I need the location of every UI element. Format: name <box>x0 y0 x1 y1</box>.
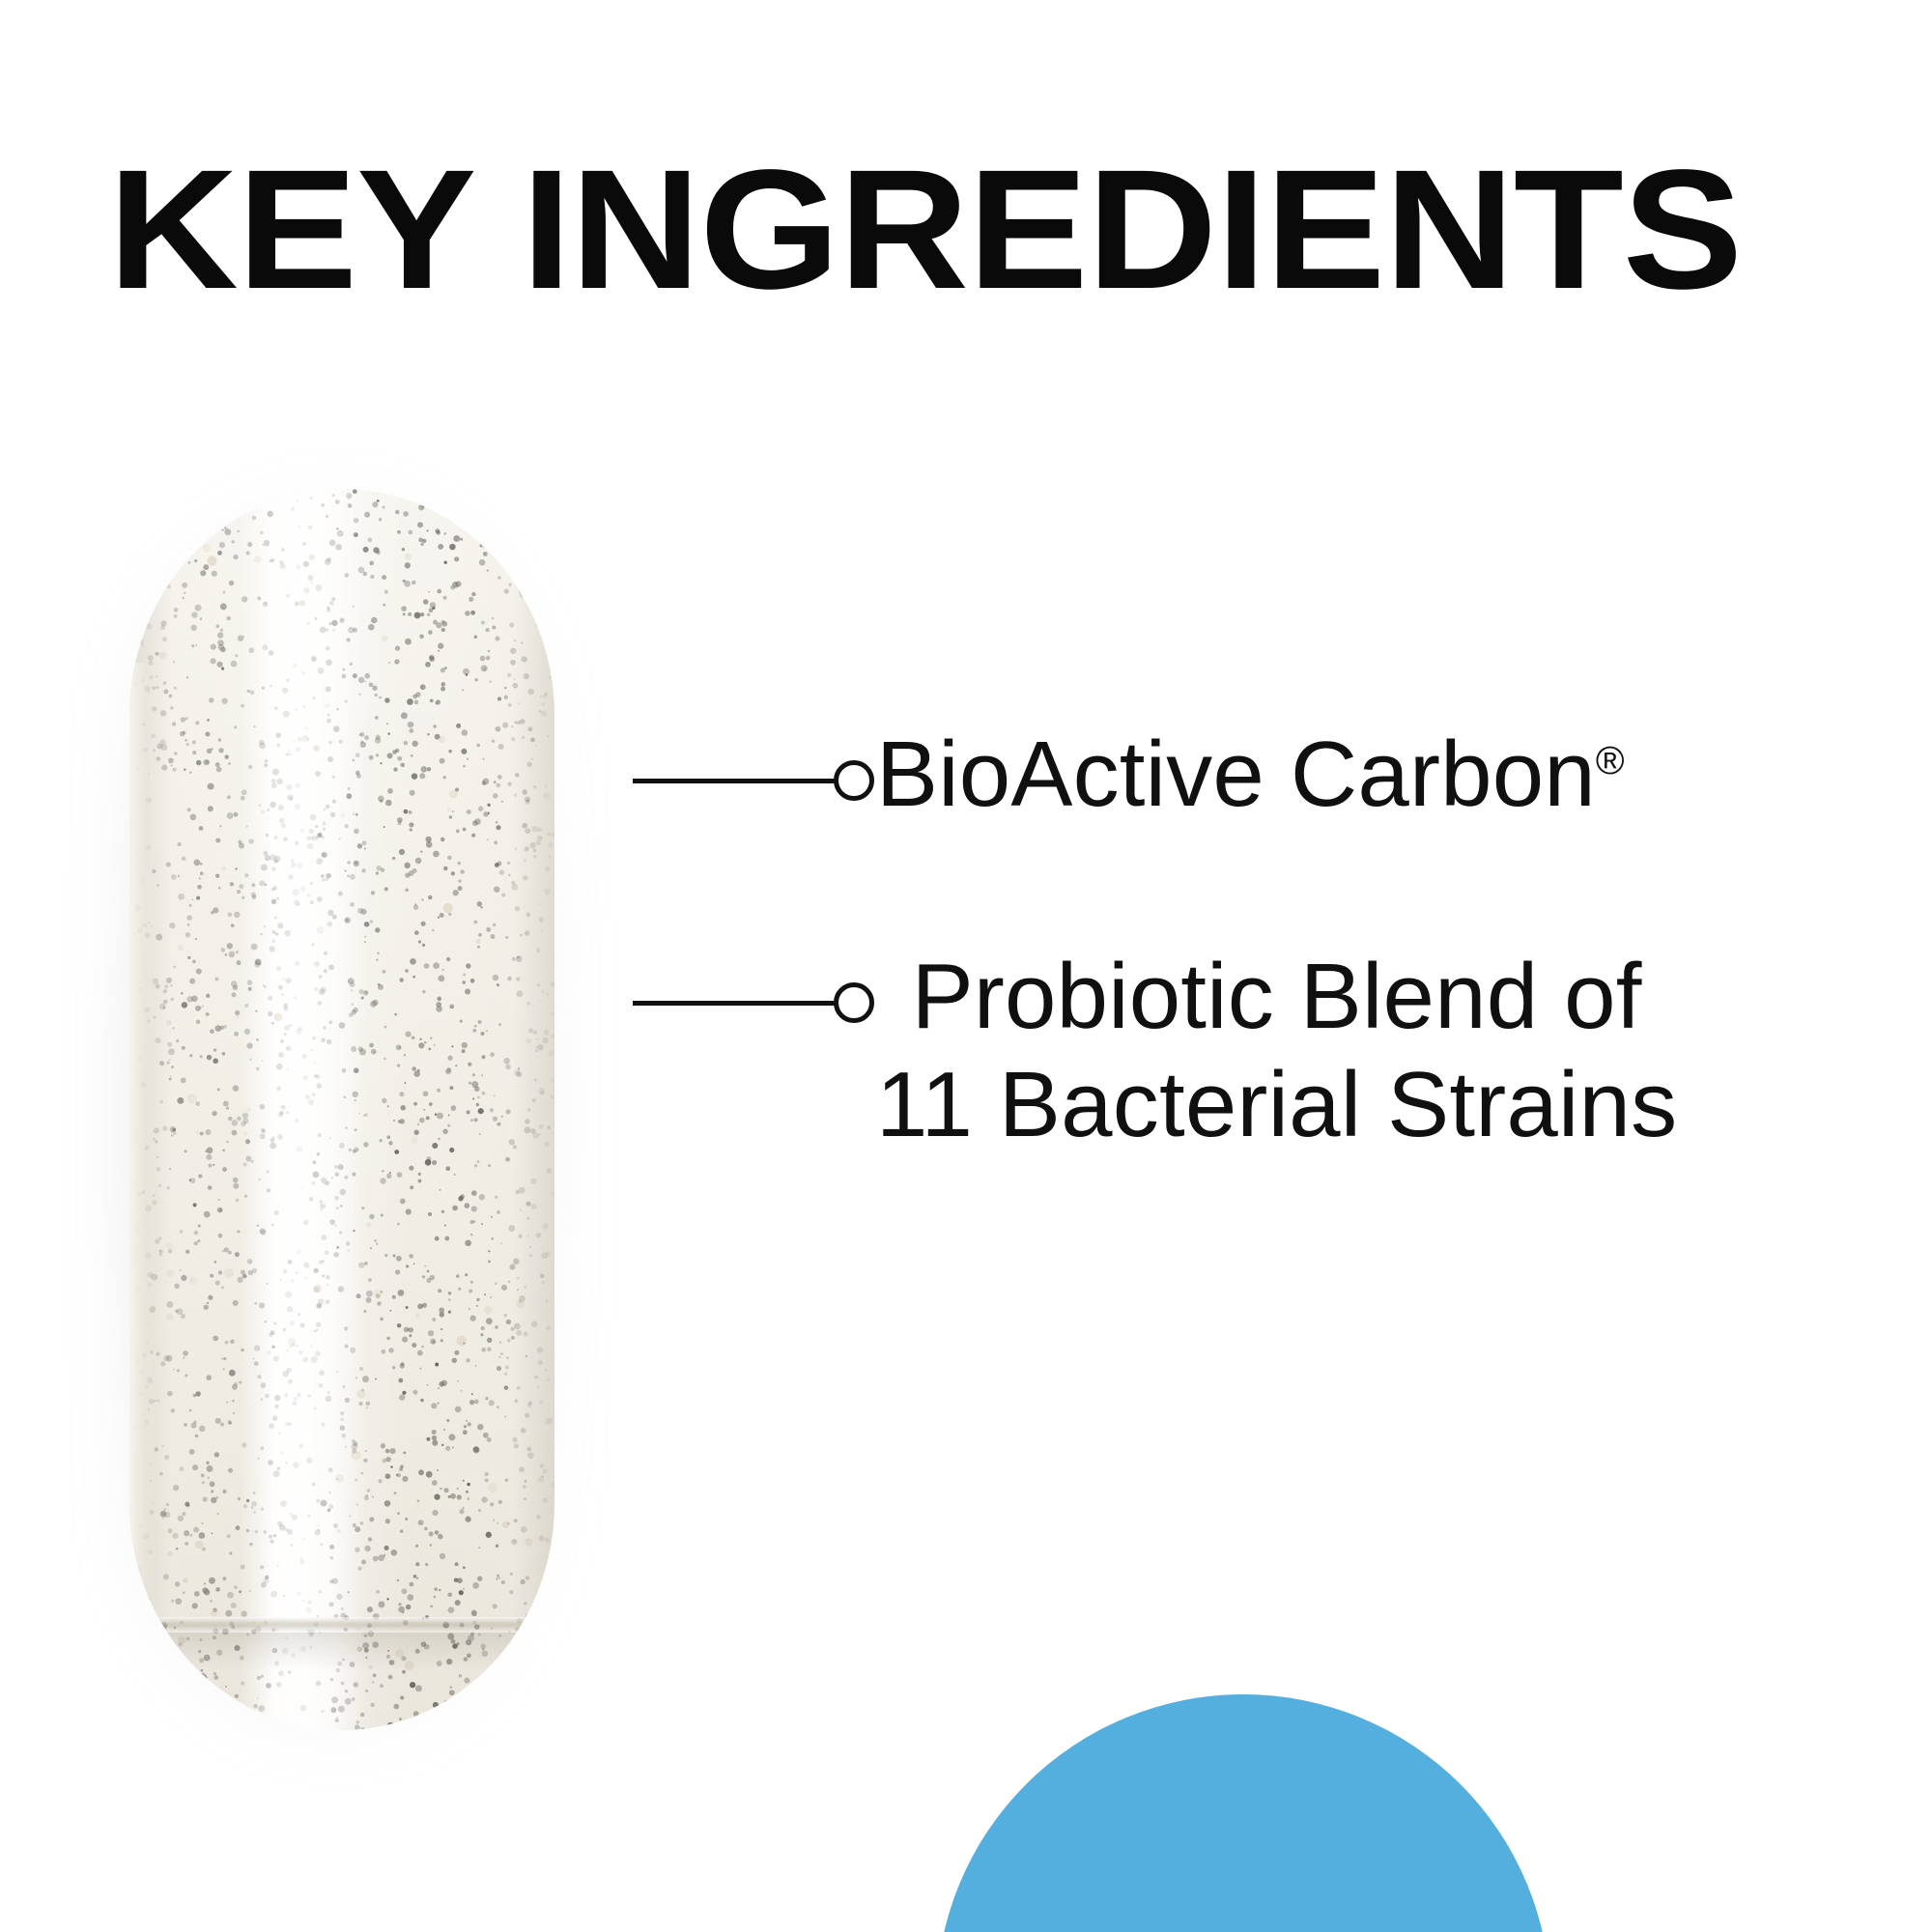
capsule-speckle-texture <box>129 489 554 1730</box>
leader-line-probiotic <box>633 956 876 1049</box>
callout-bioactive-carbon: BioActive Carbon® <box>633 734 1625 829</box>
page-title: KEY INGREDIENTS <box>108 145 1742 315</box>
capsule-cap-seam <box>129 663 158 1629</box>
leader-line-stroke <box>633 779 839 783</box>
capsule-joint-shadow <box>129 1633 554 1671</box>
leader-line-stroke <box>633 1001 839 1006</box>
callout-bioactive-text: BioActive Carbon® <box>876 721 1625 829</box>
hollow-circle-marker-icon <box>834 982 874 1023</box>
callout-line: 11 Bacterial Strains <box>876 1051 1677 1159</box>
blue-accent-circle <box>936 1694 1550 1932</box>
capsule-joint <box>129 1617 554 1633</box>
hollow-circle-marker-icon <box>834 760 874 801</box>
callout-line-text: BioActive Carbon <box>876 723 1596 826</box>
leader-line-bioactive <box>633 734 876 827</box>
callout-line: BioActive Carbon® <box>876 721 1625 829</box>
callout-line: Probiotic Blend of <box>876 943 1677 1051</box>
capsule-image <box>129 489 554 1730</box>
callout-probiotic-text: Probiotic Blend of 11 Bacterial Strains <box>876 943 1677 1159</box>
registered-trademark-icon: ® <box>1596 738 1625 782</box>
capsule-figure <box>106 464 580 1748</box>
callout-probiotic-blend: Probiotic Blend of 11 Bacterial Strains <box>633 956 1677 1159</box>
